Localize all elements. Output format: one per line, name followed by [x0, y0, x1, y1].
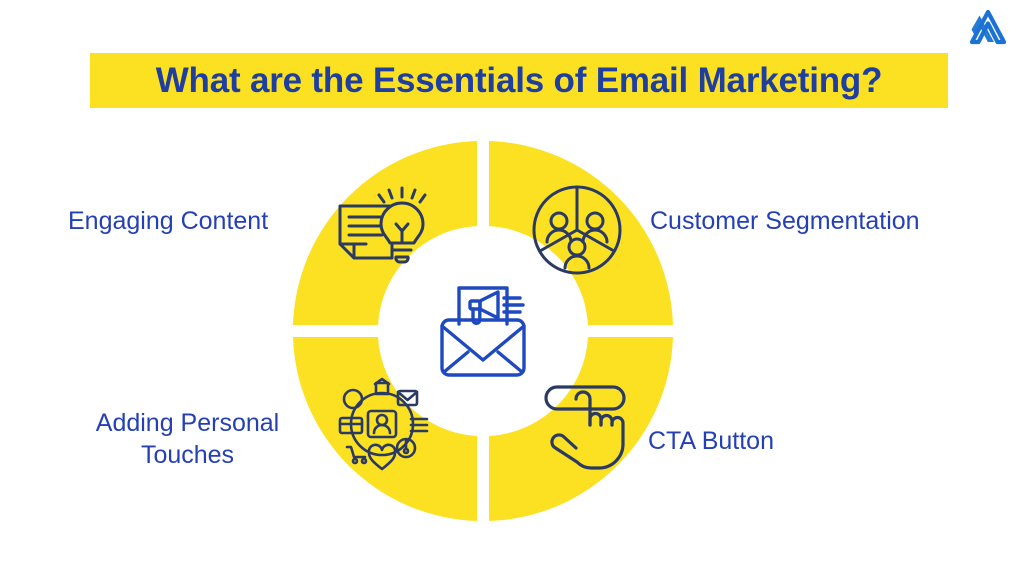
segmented-circle-people-icon — [530, 183, 624, 277]
label-engaging-content: Engaging Content — [68, 206, 318, 238]
page-title: What are the Essentials of Email Marketi… — [156, 63, 883, 98]
envelope-megaphone-icon — [428, 276, 538, 386]
label-adding-personal-touches: Adding Personal Touches — [55, 408, 320, 471]
label-cta-button: CTA Button — [648, 426, 908, 458]
infographic-canvas: What are the Essentials of Email Marketi… — [0, 0, 1024, 576]
mountain-m-logo — [966, 8, 1010, 46]
title-banner: What are the Essentials of Email Marketi… — [90, 53, 948, 108]
label-customer-segmentation: Customer Segmentation — [650, 206, 990, 238]
personalization-network-icon — [335, 377, 429, 471]
document-lightbulb-icon — [336, 180, 430, 274]
hand-click-button-icon — [540, 378, 634, 472]
